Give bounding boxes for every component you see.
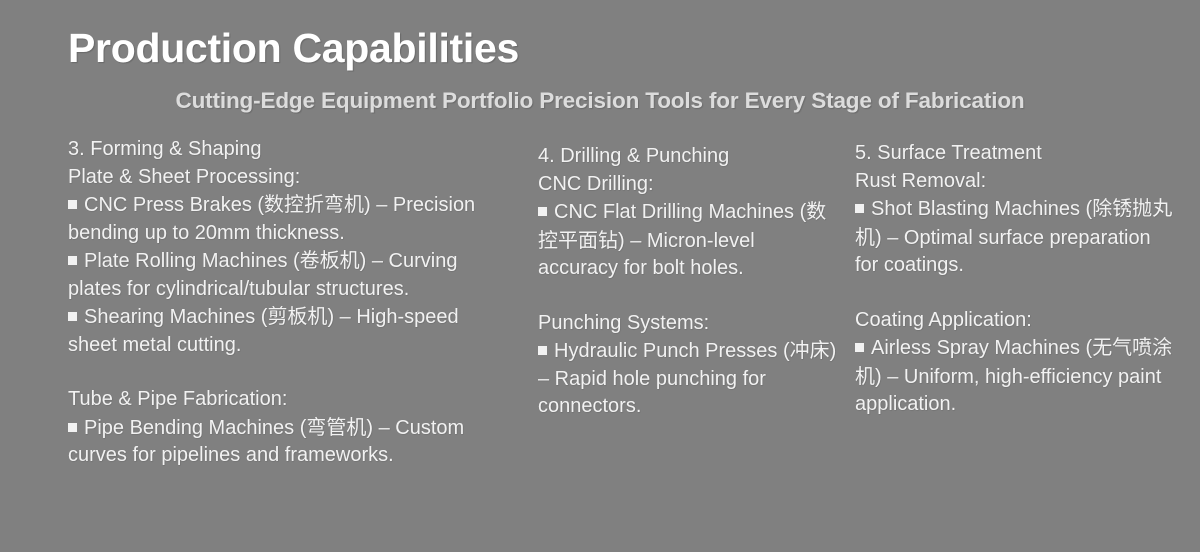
cjk-term: 数控折弯机 [264,192,364,216]
block-subheading: Rust Removal: [855,168,1175,196]
column-heading: 5. Surface Treatment [855,140,1175,168]
square-bullet-icon [855,204,864,213]
block-subheading: Punching Systems: [538,310,838,338]
square-bullet-icon [855,343,864,352]
cjk-term: 除锈抛丸机 [855,196,1172,249]
content-column-3: 5. Surface TreatmentRust Removal:Shot Bl… [855,140,1175,419]
list-item-text: Shearing Machines (剪板机) – High-speed she… [68,306,459,356]
list-item-text: CNC Press Brakes (数控折弯机) – Precision ben… [68,194,475,244]
list-item: Pipe Bending Machines (弯管机) – Custom cur… [68,414,498,470]
content-columns: 3. Forming & ShapingPlate & Sheet Proces… [0,0,1200,552]
cjk-term: 无气喷涂机 [855,335,1172,388]
list-item: Shearing Machines (剪板机) – High-speed she… [68,303,498,359]
cjk-term: 卷板机 [300,248,360,272]
list-item-text: CNC Flat Drilling Machines (数控平面钻) – Mic… [538,201,826,279]
block-subheading: Tube & Pipe Fabrication: [68,386,498,414]
slide-canvas: Production Capabilities Cutting-Edge Equ… [0,0,1200,552]
content-block: Tube & Pipe Fabrication:Pipe Bending Mac… [68,386,498,470]
list-item: CNC Press Brakes (数控折弯机) – Precision ben… [68,191,498,247]
list-item: CNC Flat Drilling Machines (数控平面钻) – Mic… [538,198,838,283]
block-subheading: CNC Drilling: [538,171,838,199]
cjk-term: 剪板机 [267,304,327,328]
cjk-term: 冲床 [790,338,830,362]
list-item-text: Plate Rolling Machines (卷板机) – Curving p… [68,250,457,300]
content-block: CNC Drilling:CNC Flat Drilling Machines … [538,171,838,283]
list-item-text: Airless Spray Machines (无气喷涂机) – Uniform… [855,337,1172,415]
content-column-2: 4. Drilling & PunchingCNC Drilling:CNC F… [538,143,838,421]
content-block: Coating Application:Airless Spray Machin… [855,307,1175,419]
square-bullet-icon [68,312,77,321]
column-heading: 3. Forming & Shaping [68,136,498,164]
list-item-text: Hydraulic Punch Presses (冲床) – Rapid hol… [538,340,836,417]
content-block: Punching Systems:Hydraulic Punch Presses… [538,310,838,421]
block-subheading: Plate & Sheet Processing: [68,164,498,192]
column-heading: 4. Drilling & Punching [538,143,838,171]
block-subheading: Coating Application: [855,307,1175,335]
square-bullet-icon [538,346,547,355]
square-bullet-icon [68,256,77,265]
list-item: Airless Spray Machines (无气喷涂机) – Uniform… [855,334,1175,419]
content-block: Plate & Sheet Processing:CNC Press Brake… [68,164,498,360]
list-item-text: Pipe Bending Machines (弯管机) – Custom cur… [68,417,464,467]
list-item: Hydraulic Punch Presses (冲床) – Rapid hol… [538,337,838,421]
content-block: Rust Removal:Shot Blasting Machines (除锈抛… [855,168,1175,280]
square-bullet-icon [538,207,547,216]
list-item: Shot Blasting Machines (除锈抛丸机) – Optimal… [855,195,1175,280]
cjk-term: 数控平面钻 [538,199,826,252]
content-column-1: 3. Forming & ShapingPlate & Sheet Proces… [68,136,498,470]
square-bullet-icon [68,200,77,209]
list-item: Plate Rolling Machines (卷板机) – Curving p… [68,247,498,303]
cjk-term: 弯管机 [306,415,366,439]
square-bullet-icon [68,423,77,432]
list-item-text: Shot Blasting Machines (除锈抛丸机) – Optimal… [855,198,1172,276]
